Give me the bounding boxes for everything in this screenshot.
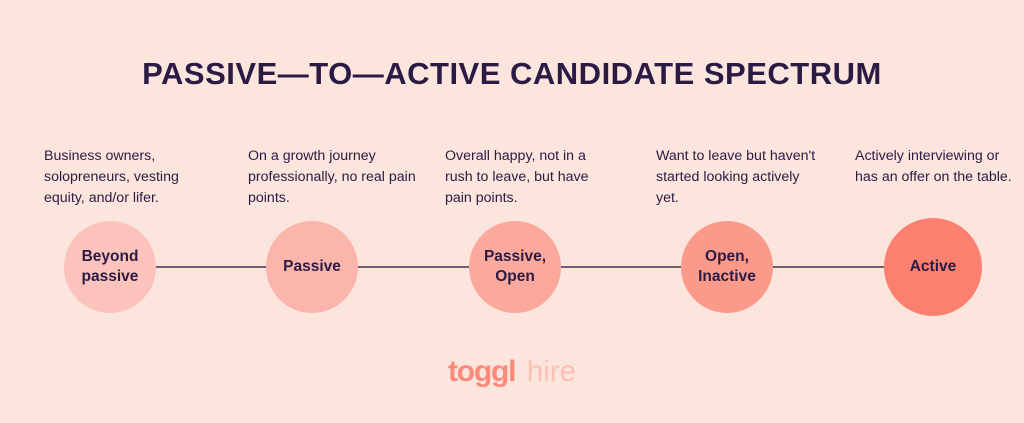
captions-row: Business owners, solopreneurs, vesting e… [0, 146, 1024, 216]
spectrum-node-label: Active [906, 257, 961, 277]
toggl-hire-logo: toggl hire [0, 355, 1024, 389]
stage-caption: Want to leave but haven't started lookin… [656, 146, 816, 209]
spectrum-node-label: Open, Inactive [681, 247, 773, 288]
spectrum-connector [773, 266, 884, 268]
stage-caption: On a growth journey professionally, no r… [248, 146, 418, 209]
spectrum-track: Beyond passive Passive Passive, Open Ope… [0, 221, 1024, 313]
spectrum-connector [156, 266, 266, 268]
spectrum-connector [561, 266, 681, 268]
spectrum-node-open-inactive: Open, Inactive [681, 221, 773, 313]
spectrum-node-beyond-passive: Beyond passive [64, 221, 156, 313]
logo-wordmark-toggl: toggl [448, 355, 515, 388]
stage-caption: Overall happy, not in a rush to leave, b… [445, 146, 610, 209]
spectrum-node-passive-open: Passive, Open [469, 221, 561, 313]
infographic-canvas: PASSIVE—TO—ACTIVE CANDIDATE SPECTRUM Bus… [0, 0, 1024, 423]
logo-wordmark-hire: hire [527, 355, 576, 388]
spectrum-node-label: Passive [279, 257, 345, 277]
stage-caption: Actively interviewing or has an offer on… [855, 146, 1020, 188]
stage-caption: Business owners, solopreneurs, vesting e… [44, 146, 222, 209]
spectrum-node-label: Passive, Open [469, 247, 561, 288]
spectrum-node-label: Beyond passive [64, 247, 156, 288]
spectrum-node-passive: Passive [266, 221, 358, 313]
page-title: PASSIVE—TO—ACTIVE CANDIDATE SPECTRUM [0, 56, 1024, 92]
spectrum-node-active: Active [884, 218, 982, 316]
spectrum-connector [358, 266, 469, 268]
